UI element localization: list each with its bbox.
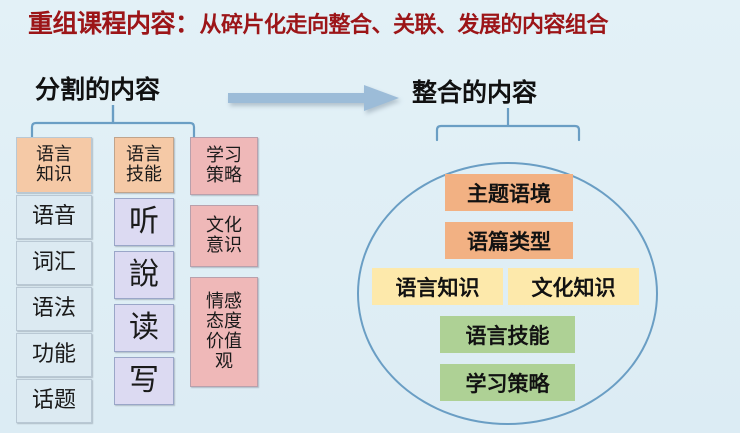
column-strategies-culture-affect: 学习策略 文化意识 情感态度价值观 xyxy=(190,137,258,387)
pill-language-skills: 语言技能 xyxy=(440,316,575,353)
left-section-heading: 分割的内容 xyxy=(35,70,160,106)
page-title: 重组课程内容：从碎片化走向整合、关联、发展的内容组合 xyxy=(28,4,728,40)
pill-text-type: 语篇类型 xyxy=(445,222,573,259)
page-title-main: 重组课程内容： xyxy=(28,9,200,38)
right-bracket xyxy=(425,108,605,147)
slide-canvas: 重组课程内容：从碎片化走向整合、关联、发展的内容组合 分割的内容 整合的内容 语… xyxy=(0,0,740,433)
list-item: 文化意识 xyxy=(190,205,258,267)
list-item: 话题 xyxy=(16,379,92,423)
list-item: 听 xyxy=(114,198,174,246)
list-item: 說 xyxy=(114,251,174,299)
list-item: 读 xyxy=(114,304,174,352)
list-item: 功能 xyxy=(16,333,92,377)
pill-cultural-knowledge: 文化知识 xyxy=(508,268,639,305)
list-item-label: 情感态度价值观 xyxy=(205,292,243,373)
column-header-label: 语言技能 xyxy=(125,145,163,185)
pill-theme-context: 主题语境 xyxy=(445,174,573,211)
pill-learning-strategies: 学习策略 xyxy=(440,364,575,401)
list-item: 词汇 xyxy=(16,241,92,285)
list-item-label: 文化意识 xyxy=(205,216,243,256)
column-header: 语言技能 xyxy=(114,137,174,193)
list-item-label: 学习策略 xyxy=(205,146,243,186)
column-language-skills: 语言技能 听 說 读 写 xyxy=(114,137,174,405)
pill-language-knowledge: 语言知识 xyxy=(372,268,503,305)
column-language-knowledge: 语言知识 语音 词汇 语法 功能 话题 xyxy=(16,137,92,423)
list-item: 写 xyxy=(114,357,174,405)
list-item: 语法 xyxy=(16,287,92,331)
list-item: 语音 xyxy=(16,195,92,239)
right-arrow-icon xyxy=(228,84,400,112)
column-header-label: 语言知识 xyxy=(35,145,73,185)
right-section-heading: 整合的内容 xyxy=(412,73,537,109)
list-item: 情感态度价值观 xyxy=(190,277,258,387)
list-item: 学习策略 xyxy=(190,137,258,195)
page-title-sub: 从碎片化走向整合、关联、发展的内容组合 xyxy=(200,13,609,38)
column-header: 语言知识 xyxy=(16,137,92,193)
